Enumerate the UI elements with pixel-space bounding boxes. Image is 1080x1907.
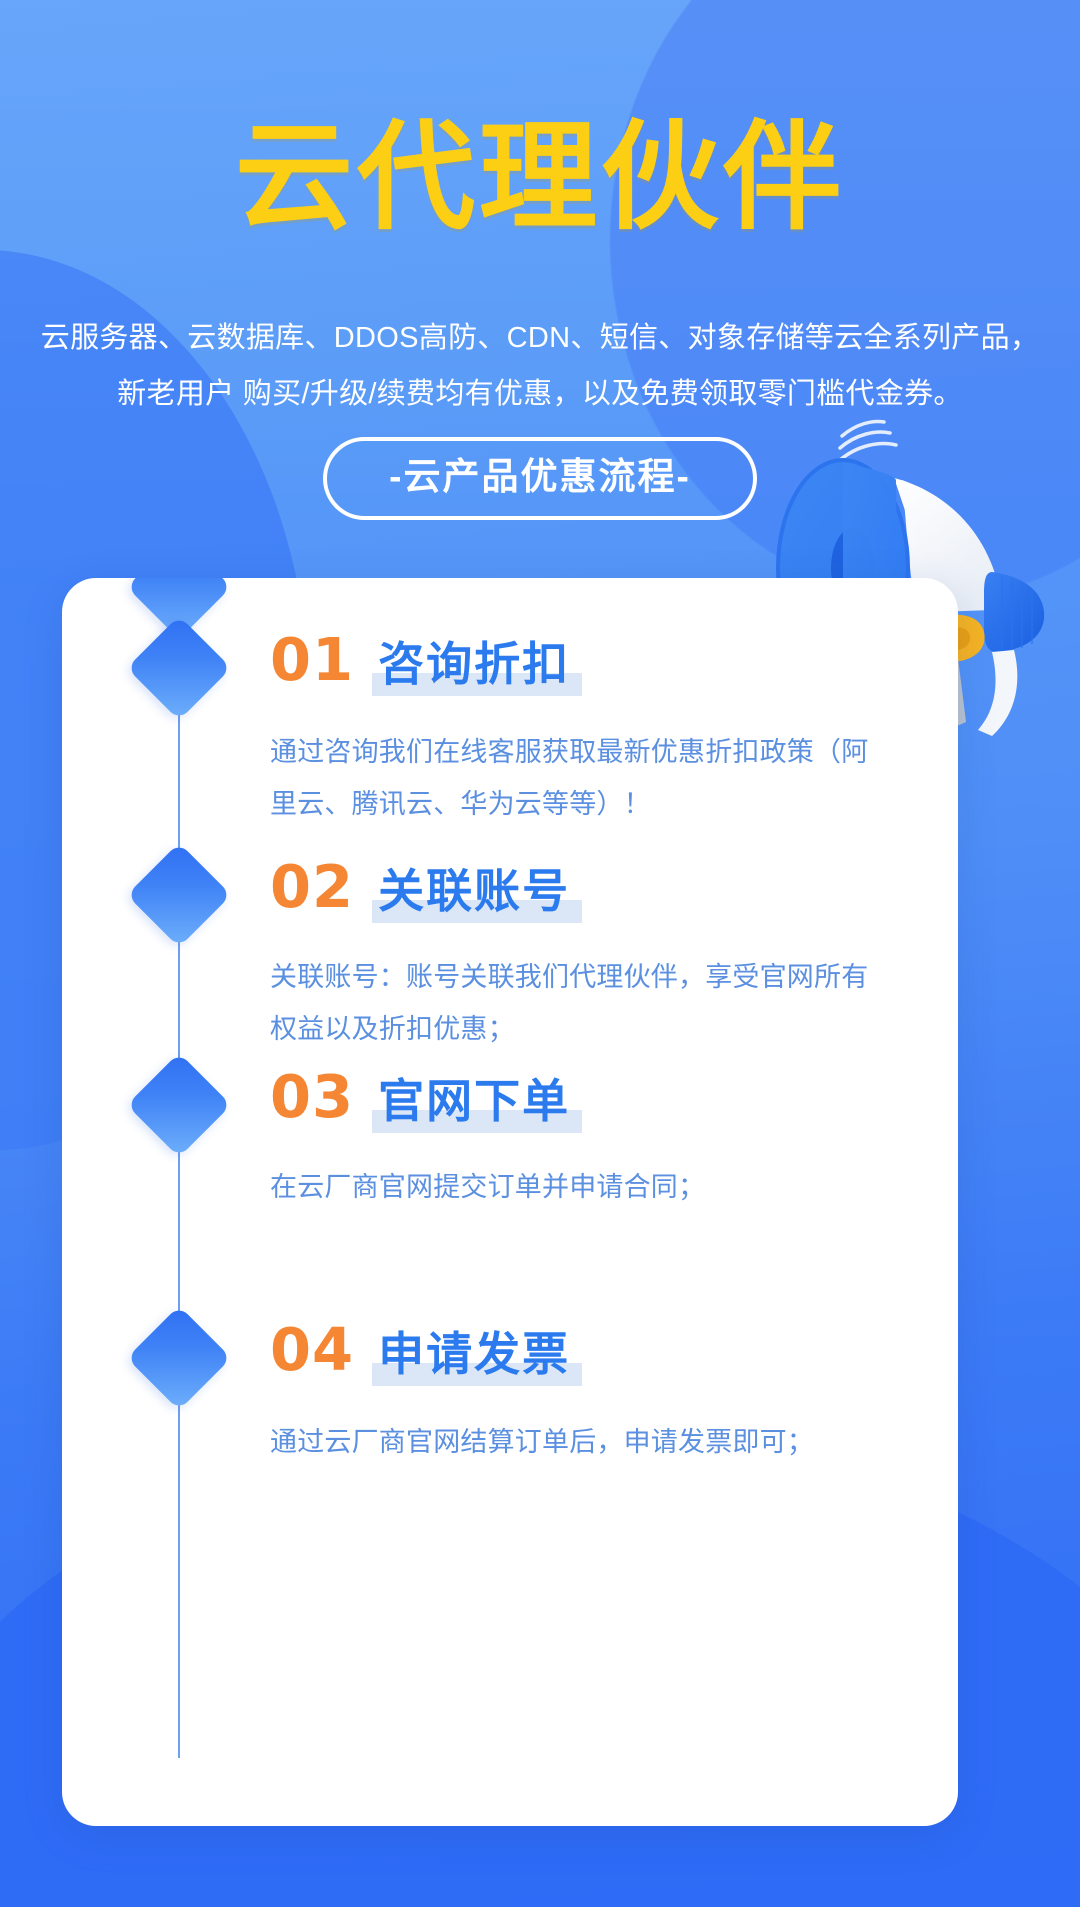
step-3-head: 03 官网下单 xyxy=(270,1067,570,1126)
section-badge: -云产品优惠流程- xyxy=(323,437,757,520)
step-4-title: 申请发票 xyxy=(378,1331,570,1377)
poster-root: 云代理伙伴 云服务器、云数据库、DDOS高防、CDN、短信、对象存储等云全系列产… xyxy=(0,0,1080,1907)
step-4-head: 04 申请发票 xyxy=(270,1320,570,1379)
diamond-icon-2 xyxy=(127,843,232,948)
subtitle-line-2: 新老用户 购买/升级/续费均有优惠，以及免费领取零门槛代金券。 xyxy=(0,366,1080,422)
page-title: 云代理伙伴 xyxy=(0,118,1080,236)
step-1-head: 01 咨询折扣 xyxy=(270,630,570,689)
header-subtitle: 云服务器、云数据库、DDOS高防、CDN、短信、对象存储等云全系列产品， 新老用… xyxy=(0,310,1080,422)
step-2-title: 关联账号 xyxy=(378,868,570,914)
step-1-number: 01 xyxy=(270,630,354,689)
step-2-number: 02 xyxy=(270,857,354,916)
step-4-number: 04 xyxy=(270,1320,354,1379)
step-3-number: 03 xyxy=(270,1067,354,1126)
step-1-body: 通过咨询我们在线客服获取最新优惠折扣政策（阿里云、腾讯云、华为云等等）！ xyxy=(270,726,890,830)
diamond-icon-3 xyxy=(127,1053,232,1158)
badge-container: -云产品优惠流程- xyxy=(0,437,1080,520)
step-3-body: 在云厂商官网提交订单并申请合同； xyxy=(270,1161,890,1213)
diamond-icon-4 xyxy=(127,1306,232,1411)
diamond-icon-1 xyxy=(127,616,232,721)
step-1-title: 咨询折扣 xyxy=(378,641,570,687)
step-4-body: 通过云厂商官网结算订单后，申请发票即可； xyxy=(270,1416,890,1468)
subtitle-line-1: 云服务器、云数据库、DDOS高防、CDN、短信、对象存储等云全系列产品， xyxy=(0,310,1080,366)
steps-list: 01 咨询折扣 通过咨询我们在线客服获取最新优惠折扣政策（阿里云、腾讯云、华为云… xyxy=(62,578,958,1826)
step-2-head: 02 关联账号 xyxy=(270,857,570,916)
step-3-title: 官网下单 xyxy=(378,1078,570,1124)
step-2-body: 关联账号：账号关联我们代理伙伴，享受官网所有权益以及折扣优惠； xyxy=(270,951,890,1055)
steps-card: 01 咨询折扣 通过咨询我们在线客服获取最新优惠折扣政策（阿里云、腾讯云、华为云… xyxy=(62,578,958,1826)
